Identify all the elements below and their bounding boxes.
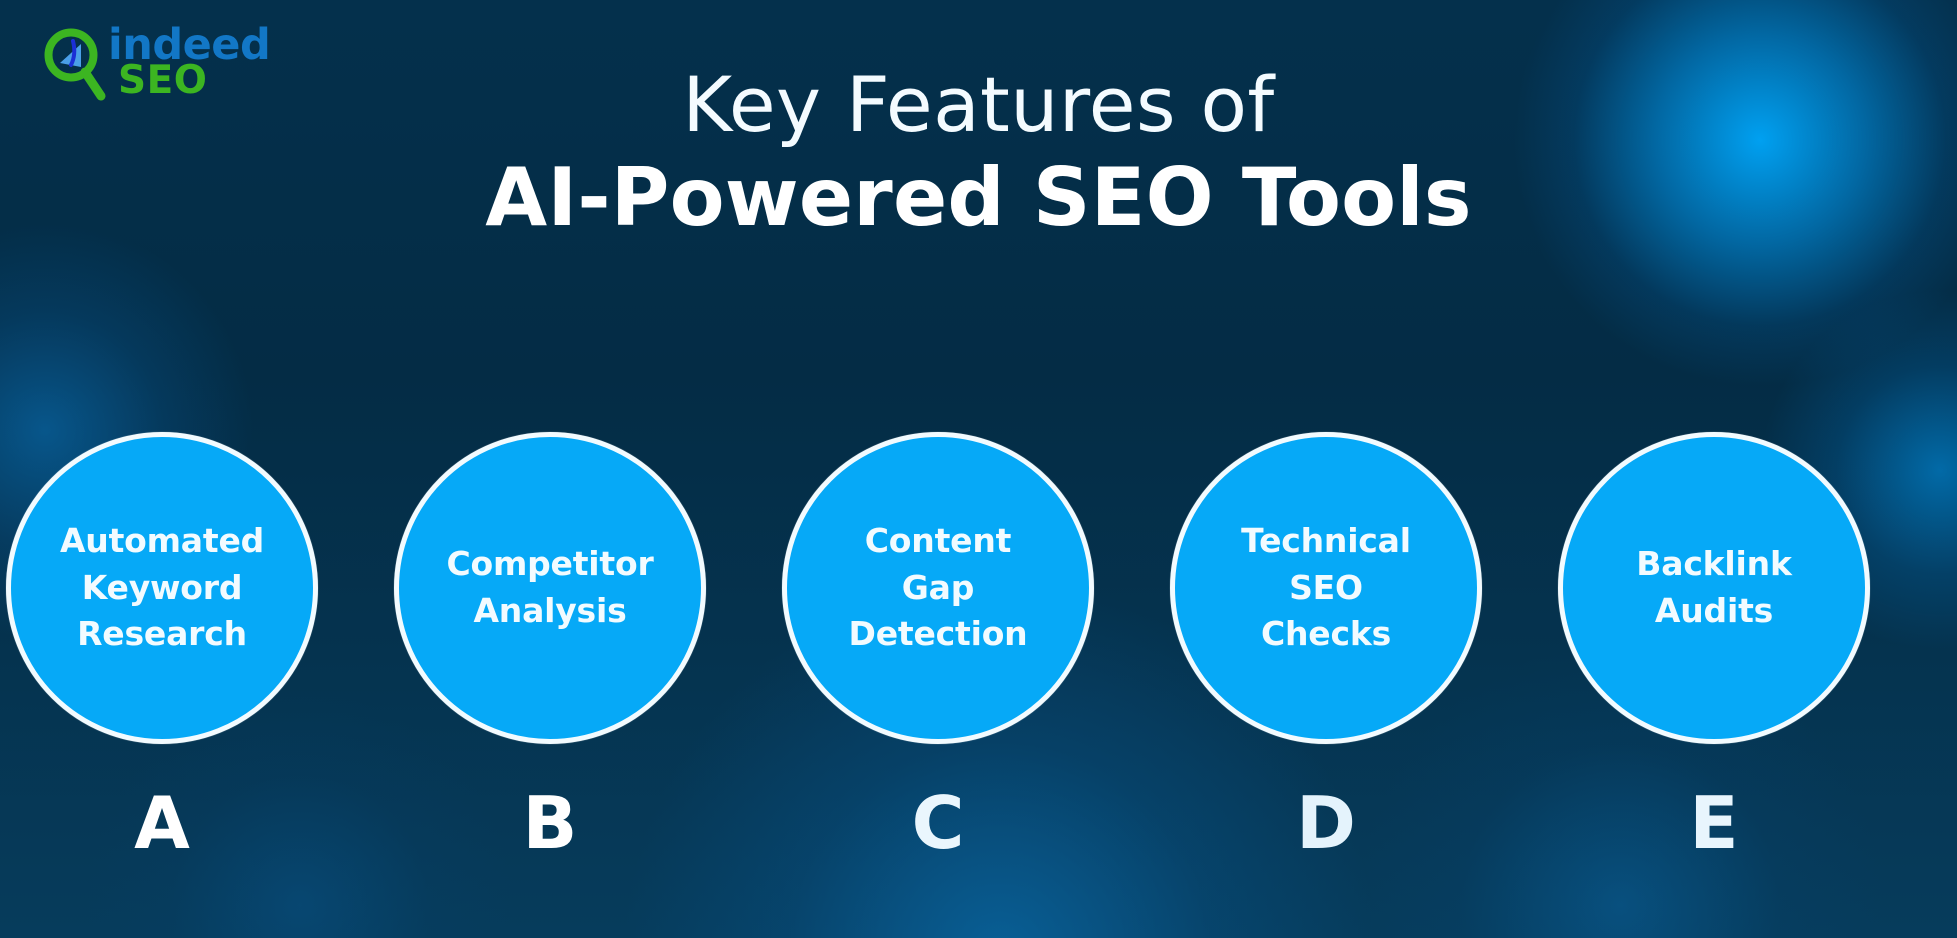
feature-circle-row: Automated Keyword Research Competitor An… bbox=[0, 432, 1957, 752]
feature-node-b[interactable]: Competitor Analysis bbox=[382, 432, 718, 752]
feature-letter-c: C bbox=[770, 780, 1106, 866]
feature-letter-b: B bbox=[382, 780, 718, 866]
feature-letter-e: E bbox=[1546, 780, 1882, 866]
page-title-line-1: Key Features of bbox=[0, 62, 1957, 147]
feature-node-a[interactable]: Automated Keyword Research bbox=[0, 432, 330, 752]
feature-label-b: Competitor Analysis bbox=[430, 541, 669, 635]
feature-node-e[interactable]: Backlink Audits bbox=[1546, 432, 1882, 752]
page-title: Key Features of AI-Powered SEO Tools bbox=[0, 62, 1957, 250]
feature-node-c[interactable]: Content Gap Detection bbox=[770, 432, 1106, 752]
feature-circle-e[interactable]: Backlink Audits bbox=[1558, 432, 1870, 744]
feature-letter-row: A B C D E bbox=[0, 780, 1957, 890]
feature-circle-b[interactable]: Competitor Analysis bbox=[394, 432, 706, 744]
feature-node-d[interactable]: Technical SEO Checks bbox=[1158, 432, 1494, 752]
feature-circle-a[interactable]: Automated Keyword Research bbox=[6, 432, 318, 744]
feature-label-a: Automated Keyword Research bbox=[44, 518, 280, 659]
page-title-line-2: AI-Powered SEO Tools bbox=[0, 147, 1957, 249]
infographic-canvas: indeed SEO Key Features of AI-Powered SE… bbox=[0, 0, 1957, 938]
feature-label-d: Technical SEO Checks bbox=[1225, 518, 1427, 659]
feature-letter-d: D bbox=[1158, 780, 1494, 866]
feature-circle-c[interactable]: Content Gap Detection bbox=[782, 432, 1094, 744]
feature-letter-a: A bbox=[0, 780, 330, 866]
feature-label-c: Content Gap Detection bbox=[833, 518, 1044, 659]
feature-label-e: Backlink Audits bbox=[1620, 541, 1807, 635]
feature-circle-d[interactable]: Technical SEO Checks bbox=[1170, 432, 1482, 744]
